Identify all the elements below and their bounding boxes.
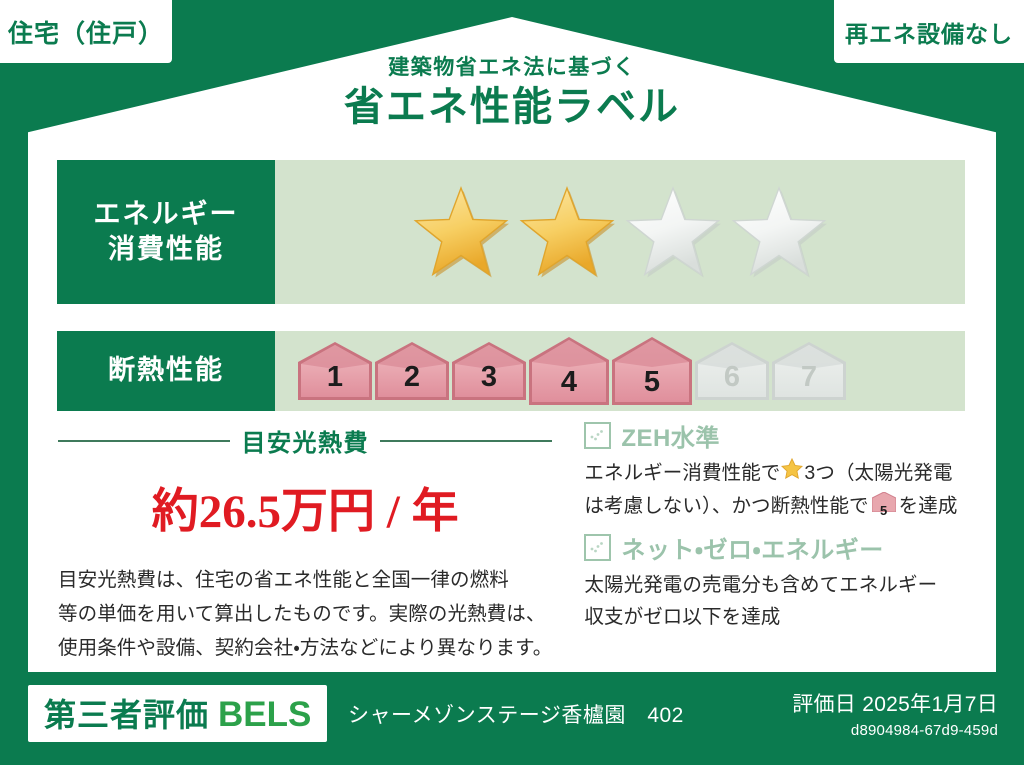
utility-cost-note-line-3: 使用条件や設備、契約会社・方法などにより異なります。 <box>58 631 552 665</box>
utility-cost-note-line-1: 目安光熱費は、住宅の省エネ性能と全国一律の燃料 <box>58 563 552 597</box>
utility-cost-column: 目安光熱費 約26.5万円 / 年 目安光熱費は、住宅の省エネ性能と全国一律の燃… <box>28 418 574 666</box>
footer-bar: 第三者評価 BELS シャーメゾンステージ香櫨園 402 評価日 2025年1月… <box>0 672 1024 765</box>
insulation-grade-value: 3 <box>452 361 526 394</box>
star-rating-container <box>275 160 965 304</box>
evaluation-date: 評価日 2025年1月7日 <box>792 688 998 718</box>
insulation-grade-value: 7 <box>772 361 846 394</box>
net-zero-energy-desc-line-1: 太陽光発電の売電分も含めてエネルギー <box>584 569 978 602</box>
insulation-grade-container: 1234567 <box>275 331 965 411</box>
utility-cost-heading: 目安光熱費 <box>58 423 552 458</box>
zeh-standard-block: ZEH水準 エネルギー消費性能で 3つ（太陽光発電 は考慮しない）、かつ断熱性能… <box>584 418 978 523</box>
utility-cost-note-line-2: 等の単価を用いて算出したものです。実際の光熱費は、 <box>58 597 552 631</box>
renewable-energy-badge: 再エネ設備なし <box>834 0 1024 63</box>
evaluation-id: d8904984-67d9-459d <box>792 722 998 739</box>
zeh-standard-header: ZEH水準 <box>584 418 978 453</box>
insulation-performance-label: 断熱性能 <box>57 331 275 411</box>
zeh-standard-desc-line-2: は考慮しない）、かつ断熱性能で 5 を達成 <box>584 490 978 523</box>
zeh-standard-desc-1b: 3つ（太陽光発電 <box>804 457 952 490</box>
zeh-standard-desc-2a: は考慮しない）、かつ断熱性能で <box>584 490 868 523</box>
bottom-section: 目安光熱費 約26.5万円 / 年 目安光熱費は、住宅の省エネ性能と全国一律の燃… <box>28 418 996 666</box>
zeh-standard-title: ZEH水準 <box>621 418 720 453</box>
housing-type-badge: 住宅（住戸） <box>0 0 172 63</box>
utility-cost-note: 目安光熱費は、住宅の省エネ性能と全国一律の燃料 等の単価を用いて算出したものです… <box>58 563 552 665</box>
energy-performance-label-text: エネルギー消費性能 <box>94 197 239 267</box>
zeh-standard-desc-1a: エネルギー消費性能で <box>584 457 780 490</box>
net-zero-energy-title: ネット・ゼロ・エネルギー <box>621 530 883 565</box>
zeh-column: ZEH水準 エネルギー消費性能で 3つ（太陽光発電 は考慮しない）、かつ断熱性能… <box>574 418 996 666</box>
insulation-grade-value: 4 <box>529 366 609 399</box>
net-zero-energy-header: ネット・ゼロ・エネルギー <box>584 530 978 565</box>
zeh-standard-desc-2b: を達成 <box>899 490 958 523</box>
bels-third-party-label: 第三者評価 <box>44 690 209 736</box>
bels-logo-text: BELS <box>218 695 311 735</box>
net-zero-energy-desc-line-2: 収支がゼロ以下を達成 <box>584 601 978 634</box>
net-zero-energy-block: ネット・ゼロ・エネルギー 太陽光発電の売電分も含めてエネルギー 収支がゼロ以下を… <box>584 530 978 635</box>
net-zero-energy-description: 太陽光発電の売電分も含めてエネルギー 収支がゼロ以下を達成 <box>584 569 978 635</box>
property-name: シャーメゾンステージ香櫨園 402 <box>348 699 684 729</box>
zeh-standard-desc-line-1: エネルギー消費性能で 3つ（太陽光発電 <box>584 457 978 490</box>
insulation-grade-value: 6 <box>695 361 769 394</box>
heading-rule-right <box>380 440 552 442</box>
inline-star-icon <box>781 457 803 490</box>
insulation-grade-badge: 5 <box>612 337 692 405</box>
energy-performance-row: エネルギー消費性能 <box>57 160 965 304</box>
insulation-grade-value: 2 <box>375 361 449 394</box>
insulation-grade-badge: 6 <box>695 342 769 400</box>
insulation-grade-value: 1 <box>298 361 372 394</box>
zeh-standard-checkbox[interactable] <box>584 422 611 449</box>
net-zero-energy-checkbox[interactable] <box>584 534 611 561</box>
energy-performance-label: エネルギー消費性能 <box>57 160 275 304</box>
insulation-grade-badge: 2 <box>375 342 449 400</box>
inline-grade-badge-icon: 5 <box>872 490 896 523</box>
star-empty-icon <box>623 184 723 280</box>
footer-meta: 評価日 2025年1月7日 d8904984-67d9-459d <box>792 688 998 739</box>
bels-plate: 第三者評価 BELS <box>28 685 327 742</box>
star-filled-icon <box>411 184 511 280</box>
insulation-grade-value: 5 <box>612 366 692 399</box>
zeh-standard-description: エネルギー消費性能で 3つ（太陽光発電 は考慮しない）、かつ断熱性能で <box>584 457 978 523</box>
insulation-grade-badge: 1 <box>298 342 372 400</box>
insulation-performance-row: 断熱性能 1234567 <box>57 331 965 411</box>
star-filled-icon <box>517 184 617 280</box>
heading-rule-left <box>58 440 230 442</box>
inline-grade-value: 5 <box>872 500 896 522</box>
insulation-grade-badge: 4 <box>529 337 609 405</box>
star-empty-icon <box>729 184 829 280</box>
utility-cost-value: 約26.5万円 / 年 <box>58 472 552 541</box>
insulation-grade-badge: 7 <box>772 342 846 400</box>
insulation-grade-badge: 3 <box>452 342 526 400</box>
utility-cost-heading-text: 目安光熱費 <box>241 423 369 458</box>
